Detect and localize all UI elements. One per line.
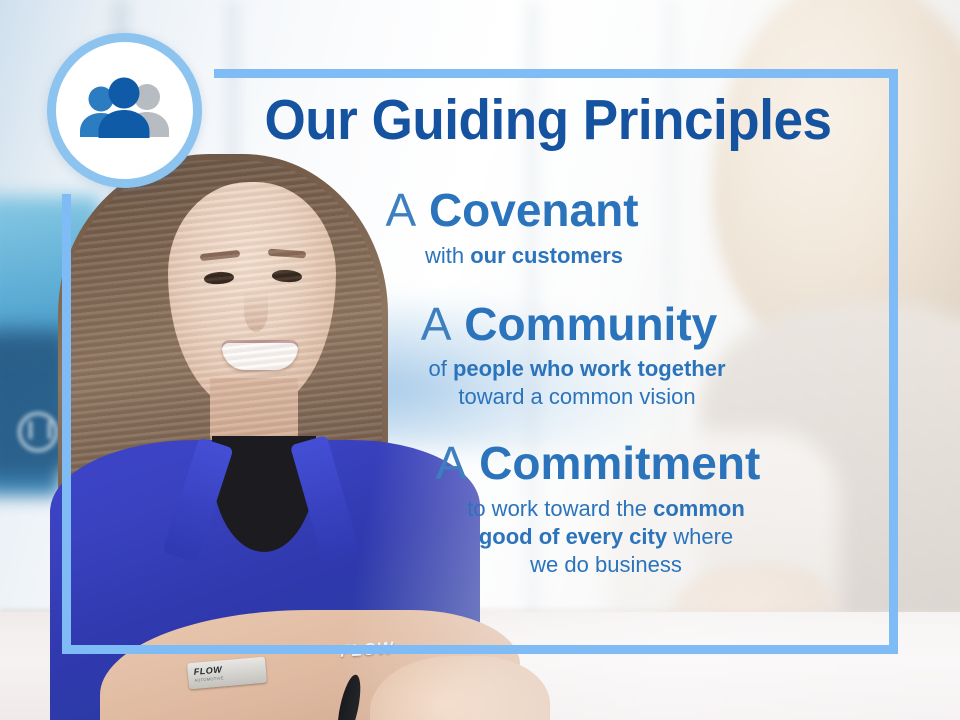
page-title: Our Guiding Principles	[241, 92, 855, 149]
subtext-part: to work toward the	[467, 496, 653, 521]
principle-title: A Commitment	[200, 439, 876, 488]
guiding-principles-banner: FLOW AUTOMOTIVE FLOW Our Guiding Princip…	[0, 0, 960, 720]
principle-keyword: Community	[464, 298, 717, 350]
principle-keyword: Covenant	[429, 184, 639, 236]
subtext-line: good of every city where	[336, 523, 876, 551]
subtext-part-bold: good of every city	[479, 524, 667, 549]
subtext-part-bold: common	[653, 496, 745, 521]
principle-commitment: A Commitment to work toward the common g…	[200, 439, 876, 579]
subtext-line: to work toward the common	[336, 495, 876, 523]
principle-title: A Community	[200, 300, 876, 349]
principle-article: A	[385, 184, 416, 236]
principle-keyword: Commitment	[479, 437, 760, 489]
people-group-badge	[47, 33, 202, 188]
subtext-part-bold: our customers	[470, 243, 623, 268]
subtext-line: of people who work together	[278, 355, 876, 383]
subtext-part: of	[428, 356, 452, 381]
principle-subtext: of people who work together toward a com…	[200, 355, 876, 411]
principle-community: A Community of people who work together …	[200, 300, 876, 412]
subtext-part: with	[425, 243, 470, 268]
principle-covenant: A Covenant with our customers	[200, 186, 876, 270]
subtext-line: with our customers	[425, 243, 623, 268]
principle-article: A	[421, 298, 452, 350]
principle-subtext: with our customers	[200, 242, 876, 270]
subtext-part-bold: people who work together	[453, 356, 726, 381]
frame-bottom-edge	[62, 645, 898, 654]
frame-left-edge	[62, 194, 71, 654]
subtext-line: toward a common vision	[278, 383, 876, 411]
frame-right-edge	[889, 69, 898, 654]
frame-top-edge	[214, 69, 898, 78]
principles-list: A Covenant with our customers A Communit…	[200, 186, 876, 583]
subtext-line: we do business	[336, 551, 876, 579]
principle-spacer	[200, 274, 876, 300]
principle-title: A Covenant	[200, 186, 876, 235]
name-badge-subtitle: AUTOMOTIVE	[194, 675, 224, 683]
principle-subtext: to work toward the common good of every …	[200, 495, 876, 579]
subtext-part: where	[667, 524, 733, 549]
people-group-icon	[73, 76, 177, 146]
principle-article: A	[436, 437, 467, 489]
principle-spacer	[200, 415, 876, 439]
